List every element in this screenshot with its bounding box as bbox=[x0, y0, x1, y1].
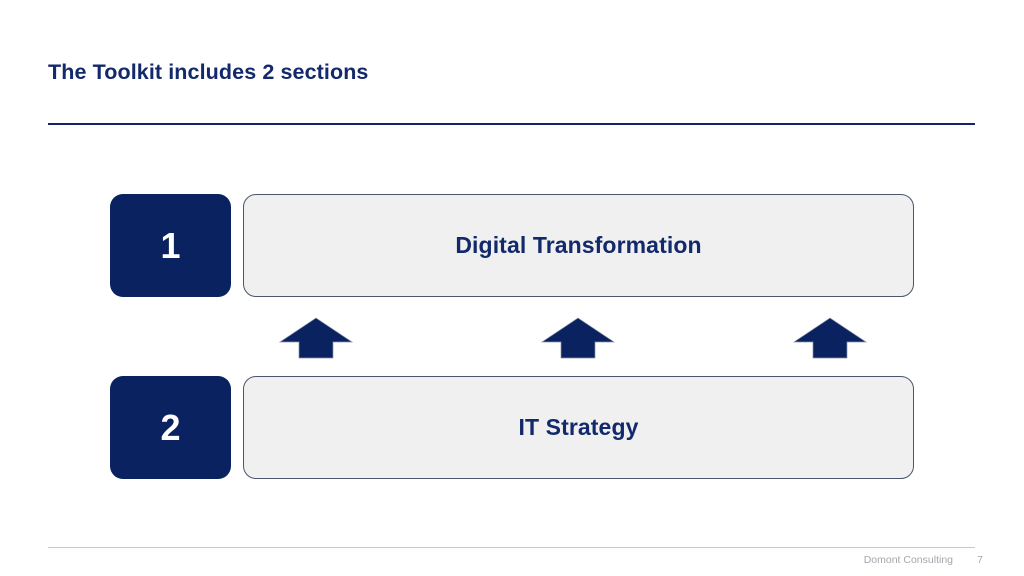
title-divider bbox=[48, 123, 975, 125]
section-number-label-1: 1 bbox=[160, 228, 180, 264]
slide-canvas: The Toolkit includes 2 sections 1 Digita… bbox=[0, 0, 1024, 576]
footer-divider bbox=[48, 547, 975, 548]
section-panel-label-2: IT Strategy bbox=[519, 414, 639, 441]
footer-page-number: 7 bbox=[977, 554, 983, 566]
section-number-label-2: 2 bbox=[160, 410, 180, 446]
section-row-1: 1 Digital Transformation bbox=[110, 194, 914, 297]
section-number-box-1[interactable]: 1 bbox=[110, 194, 231, 297]
page-title: The Toolkit includes 2 sections bbox=[48, 60, 908, 85]
footer-company-name: Domont Consulting bbox=[864, 554, 953, 566]
up-arrow-icon-center bbox=[541, 317, 615, 359]
section-panel-2[interactable]: IT Strategy bbox=[243, 376, 914, 479]
section-panel-1[interactable]: Digital Transformation bbox=[243, 194, 914, 297]
up-arrow-icon-left bbox=[279, 317, 353, 359]
section-panel-label-1: Digital Transformation bbox=[455, 232, 701, 259]
section-number-box-2[interactable]: 2 bbox=[110, 376, 231, 479]
up-arrow-icon-right bbox=[793, 317, 867, 359]
section-row-2: 2 IT Strategy bbox=[110, 376, 914, 479]
